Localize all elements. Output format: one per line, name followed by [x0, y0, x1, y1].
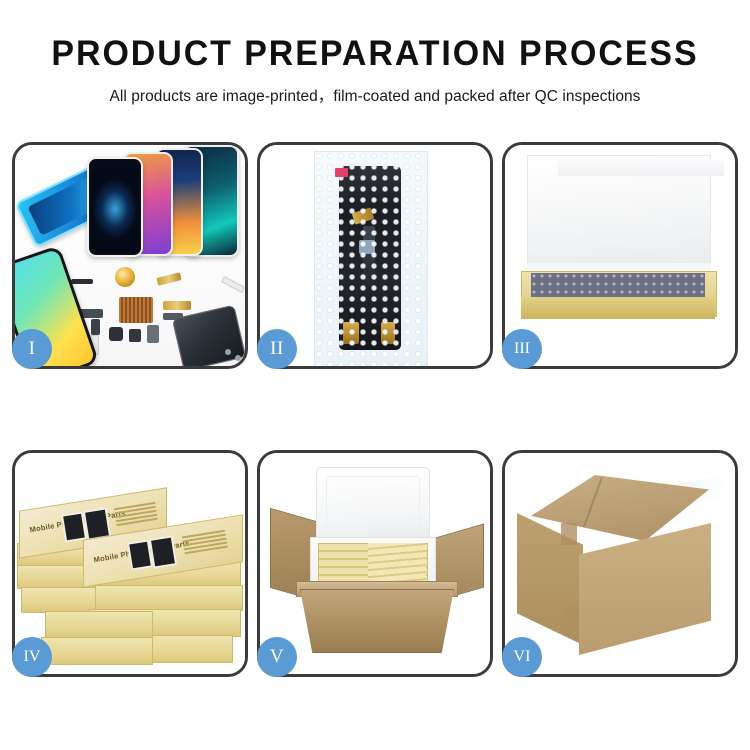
page-title: PRODUCT PREPARATION PROCESS — [11, 36, 739, 73]
box-lid-flap — [558, 160, 724, 176]
retail-box-stack: Mobile Phone Spare Parts Mobile Phone Sp… — [17, 465, 243, 665]
step-badge-6: VI — [502, 637, 542, 677]
carton-top-seam — [580, 477, 603, 536]
box-tray-front-face — [521, 297, 715, 319]
panel-phone-screens-and-parts[interactable]: I — [12, 142, 248, 369]
bubble-texture — [315, 152, 427, 366]
phone-screen-black-icon — [87, 157, 143, 257]
step-badge-4: IV — [12, 637, 52, 677]
step-badge-1: I — [12, 329, 52, 369]
step-badge-5: V — [257, 637, 297, 677]
bubble-wrap-bag — [314, 151, 428, 366]
panel-image-stacked-retail-boxes: Mobile Phone Spare Parts Mobile Phone Sp… — [15, 453, 245, 674]
panel-bubble-wrapped-screen[interactable]: II — [257, 142, 493, 369]
box-art-screen-2b — [149, 535, 177, 568]
panel-image-sealed-shipping-carton — [505, 453, 735, 674]
panel-foam-carton-packing[interactable]: V — [257, 450, 493, 677]
panel-image-open-kraft-tray-box — [505, 145, 735, 366]
foam-lid — [316, 467, 430, 545]
panel-open-kraft-tray-box[interactable]: III — [502, 142, 738, 369]
process-step-grid: I II III — [12, 142, 738, 677]
spare-parts-group — [71, 265, 245, 366]
panel-stacked-retail-boxes[interactable]: Mobile Phone Spare Parts Mobile Phone Sp… — [12, 450, 248, 677]
page-header: PRODUCT PREPARATION PROCESS All products… — [0, 0, 750, 106]
red-qc-label — [335, 168, 348, 177]
carton-tape-upper — [561, 523, 577, 545]
page-subtitle: All products are image-printed，film-coat… — [0, 84, 750, 106]
carton-body — [300, 589, 454, 653]
carton-tape-lower — [563, 607, 579, 629]
bubble-wrapped-contents — [531, 273, 705, 299]
panel-image-bubble-wrapped-screen — [260, 145, 490, 366]
step-badge-2: II — [257, 329, 297, 369]
step-badge-3: III — [502, 329, 542, 369]
box-lid-white — [527, 155, 711, 275]
sealed-carton — [517, 475, 723, 655]
panel-sealed-shipping-carton[interactable]: VI — [502, 450, 738, 677]
carton-right-face — [579, 523, 711, 655]
panel-image-phone-screens-and-parts — [15, 145, 245, 366]
panel-image-foam-carton-packing — [260, 453, 490, 674]
